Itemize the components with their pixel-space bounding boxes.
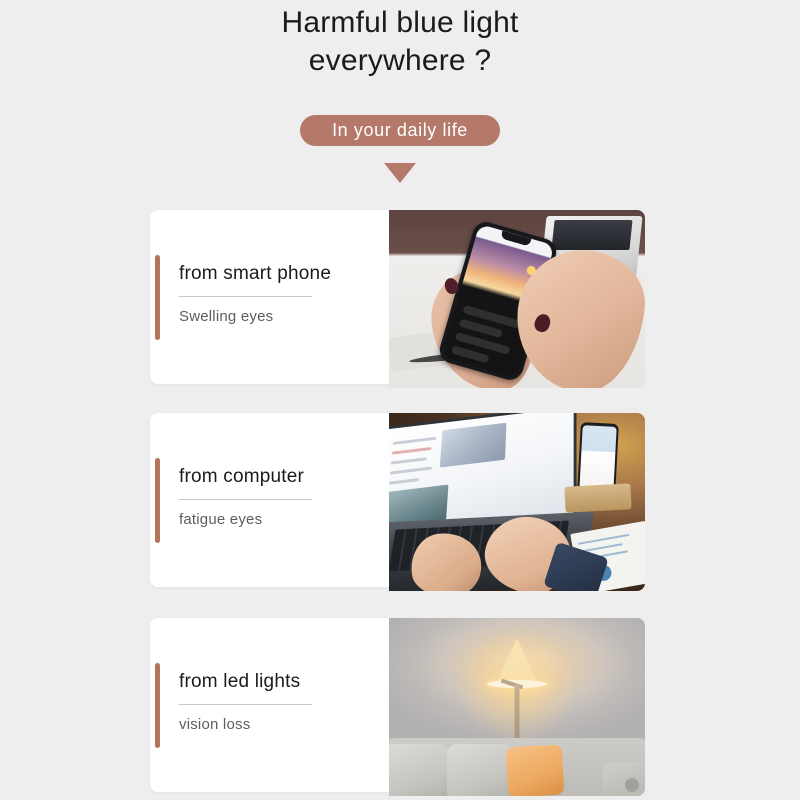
photo-hands-typing-on-laptop (389, 413, 645, 591)
card-subtitle: Swelling eyes (179, 307, 379, 327)
info-card-computer[interactable]: from computer fatigue eyes (150, 413, 645, 591)
accent-bar (155, 255, 160, 340)
card-body: from led lights vision loss (179, 670, 379, 735)
card-text-panel: from smart phone Swelling eyes (150, 210, 390, 384)
card-text-panel: from led lights vision loss (150, 618, 390, 792)
card-divider (179, 296, 312, 297)
page-title-line-2: everywhere ? (0, 42, 800, 80)
card-title: from led lights (179, 670, 379, 694)
card-divider (179, 704, 312, 705)
card-subtitle: fatigue eyes (179, 510, 379, 530)
info-card-smart-phone[interactable]: from smart phone Swelling eyes (150, 210, 645, 388)
page-title: Harmful blue light everywhere ? (0, 0, 800, 80)
photo-hands-holding-smartphone (389, 210, 645, 388)
badge-container: In your daily life (0, 115, 800, 146)
card-body: from computer fatigue eyes (179, 465, 379, 530)
card-subtitle: vision loss (179, 715, 379, 735)
card-title: from computer (179, 465, 379, 489)
accent-bar (155, 663, 160, 748)
card-body: from smart phone Swelling eyes (179, 262, 379, 327)
daily-life-badge: In your daily life (300, 115, 500, 146)
triangle-down-icon (384, 163, 416, 183)
info-card-led-lights[interactable]: from led lights vision loss (150, 618, 645, 796)
card-text-panel: from computer fatigue eyes (150, 413, 390, 587)
page-title-line-1: Harmful blue light (0, 4, 800, 42)
card-divider (179, 499, 312, 500)
card-title: from smart phone (179, 262, 379, 286)
accent-bar (155, 458, 160, 543)
arrow-container (0, 163, 800, 183)
photo-floor-lamp-over-sofa (389, 618, 645, 796)
